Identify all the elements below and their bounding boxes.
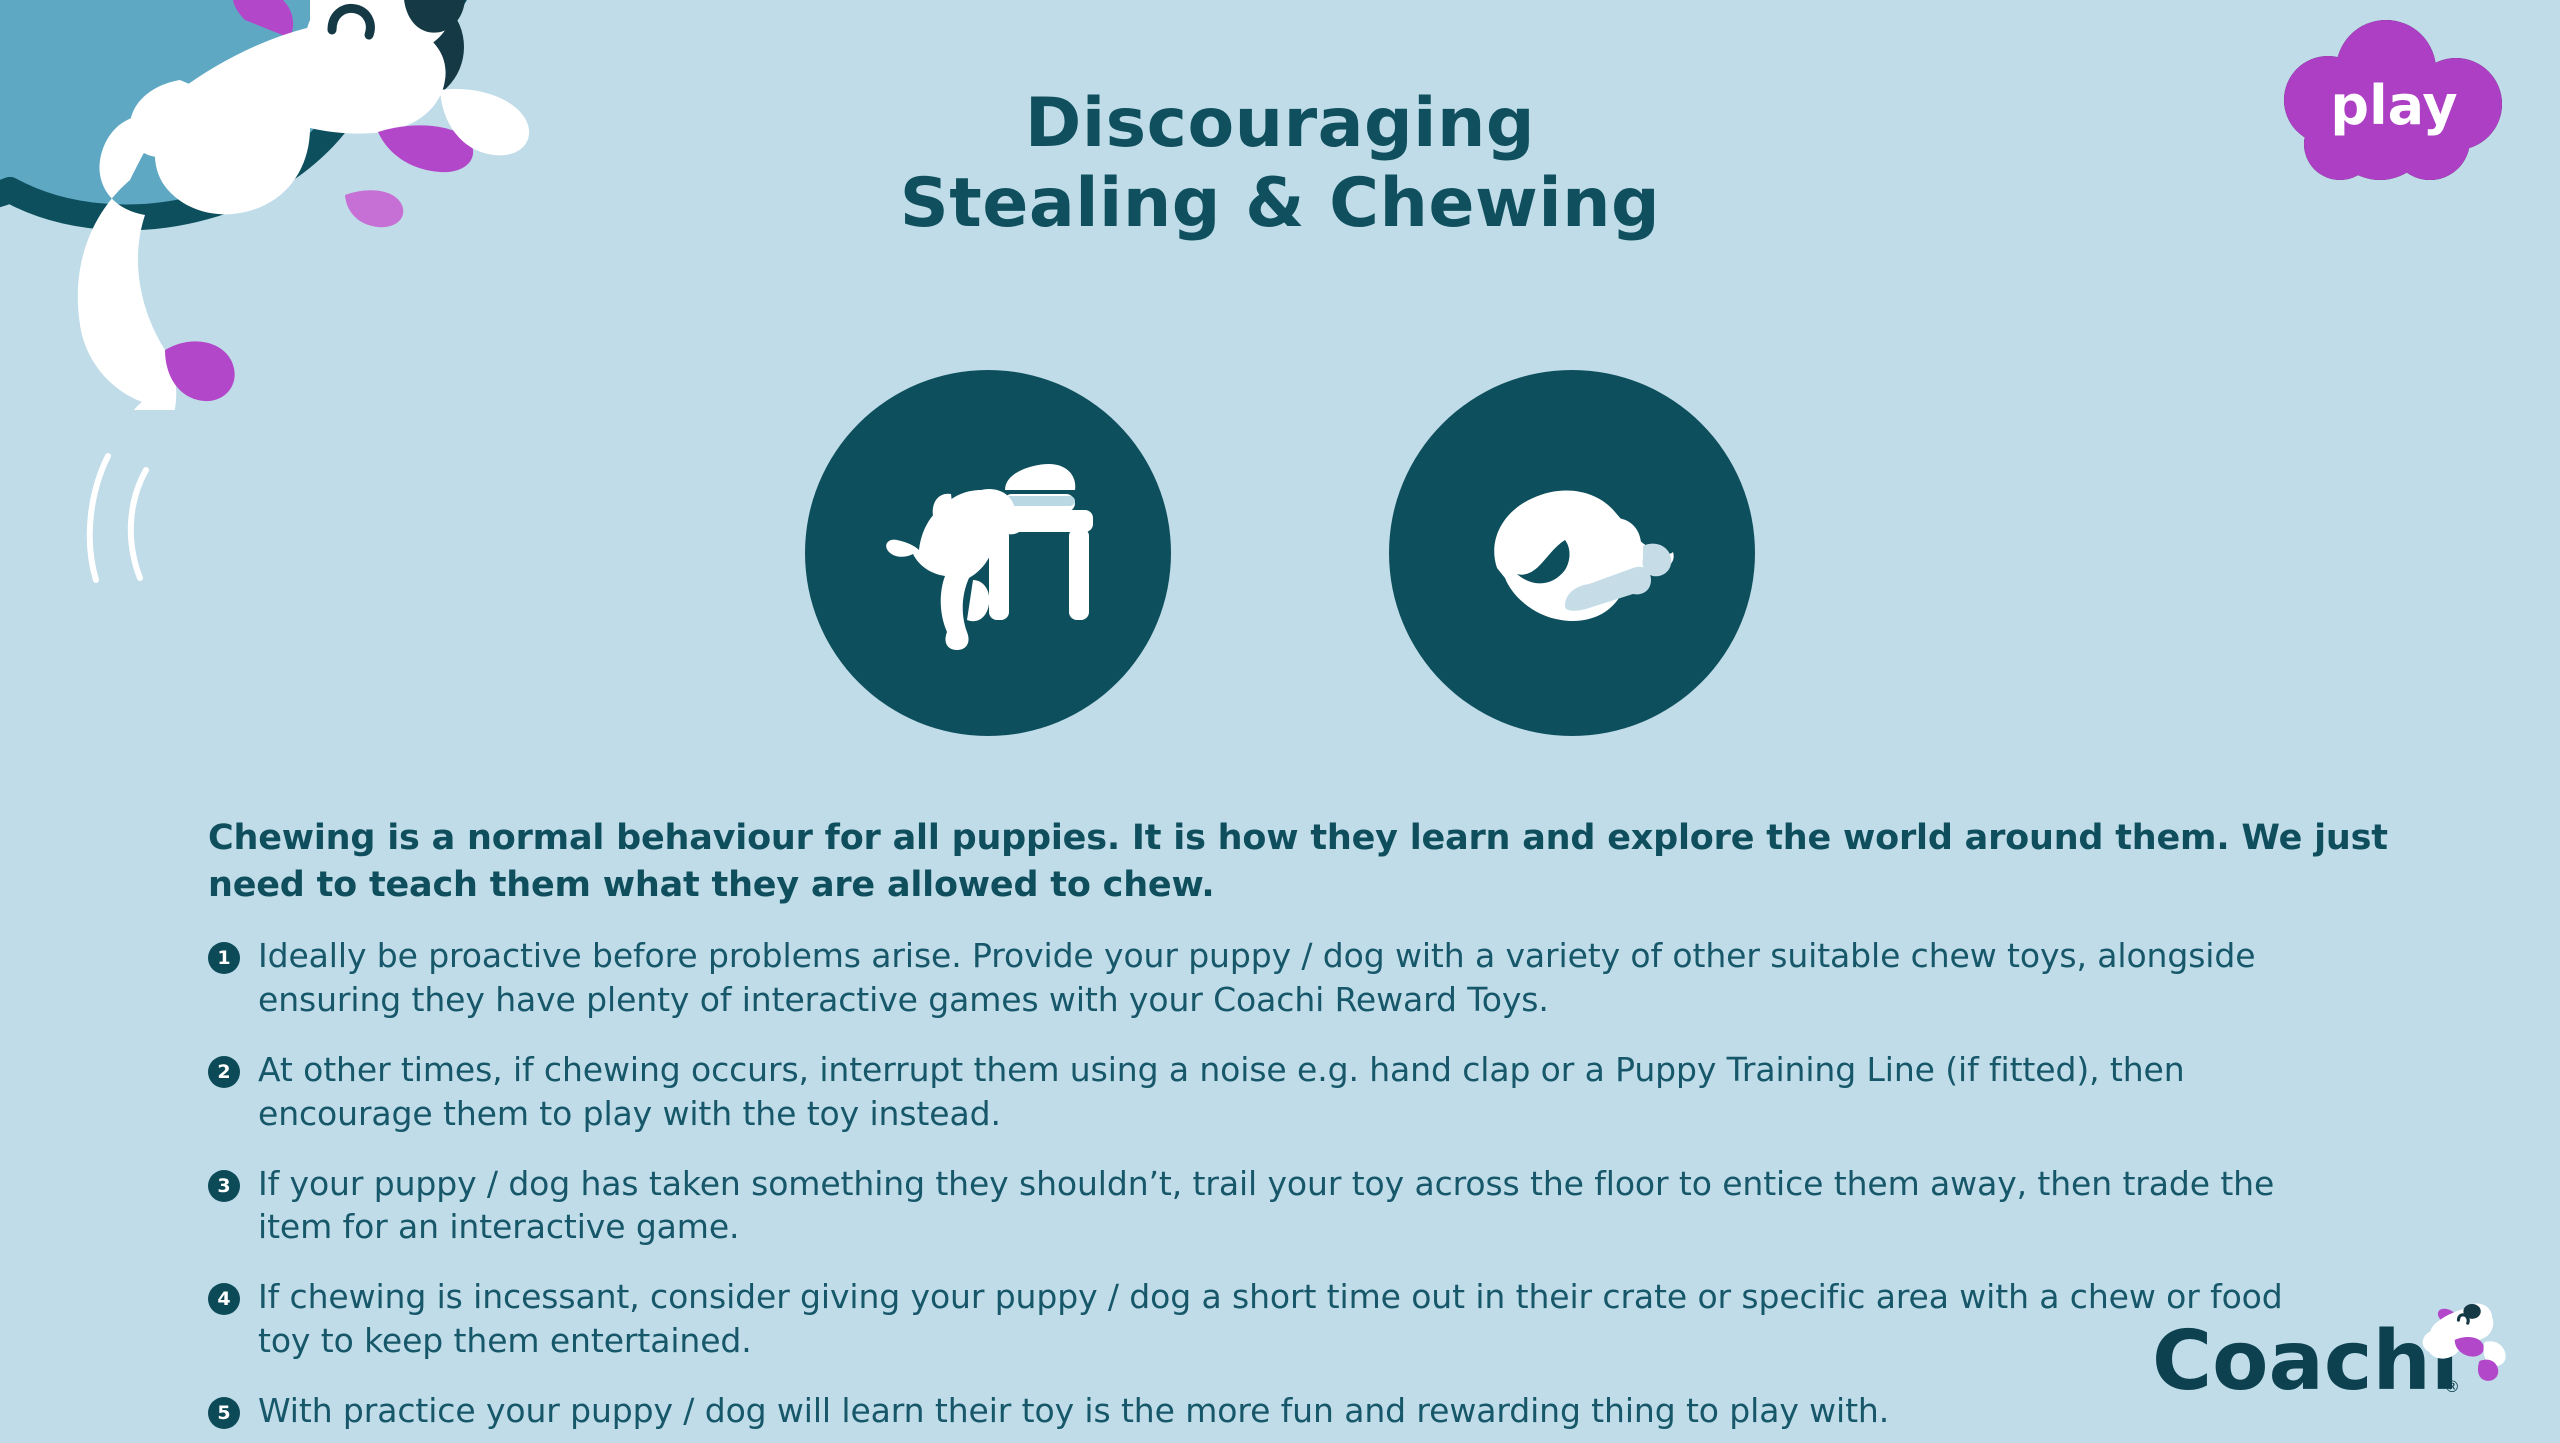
step-number-badge: 3 — [208, 1170, 240, 1202]
list-item: 4 If chewing is incessant, consider givi… — [208, 1275, 2388, 1363]
dog-stealing-food-from-table-icon — [805, 370, 1171, 736]
list-item: 1 Ideally be proactive before problems a… — [208, 934, 2388, 1022]
step-number-badge: 4 — [208, 1283, 240, 1315]
infographic-page: play Discouraging Stealing & Chewing — [0, 0, 2560, 1443]
step-number-badge: 5 — [208, 1397, 240, 1429]
lead-paragraph: Chewing is a normal behaviour for all pu… — [208, 815, 2388, 908]
body-content: Chewing is a normal behaviour for all pu… — [208, 780, 2388, 1443]
list-item: 2 At other times, if chewing occurs, int… — [208, 1048, 2388, 1136]
step-text: With practice your puppy / dog will lear… — [258, 1389, 1889, 1433]
step-text: Ideally be proactive before problems ari… — [258, 934, 2318, 1022]
icon-row — [0, 370, 2560, 736]
step-text: At other times, if chewing occurs, inter… — [258, 1048, 2318, 1136]
step-number-badge: 2 — [208, 1056, 240, 1088]
list-item: 3 If your puppy / dog has taken somethin… — [208, 1162, 2388, 1250]
steps-list: 1 Ideally be proactive before problems a… — [208, 934, 2388, 1433]
step-number-badge: 1 — [208, 942, 240, 974]
page-title: Discouraging Stealing & Chewing — [0, 84, 2560, 244]
coachi-trademark: ® — [2444, 1377, 2460, 1396]
page-title-line-1: Discouraging — [0, 84, 2560, 164]
coachi-logo: Coachi ® — [2152, 1297, 2512, 1417]
step-text: If your puppy / dog has taken something … — [258, 1162, 2318, 1250]
page-title-line-2: Stealing & Chewing — [0, 164, 2560, 244]
coachi-logo-text: Coachi — [2152, 1314, 2459, 1409]
step-text: If chewing is incessant, consider giving… — [258, 1275, 2318, 1363]
dog-chewing-bone-icon — [1389, 370, 1755, 736]
list-item: 5 With practice your puppy / dog will le… — [208, 1389, 2388, 1433]
